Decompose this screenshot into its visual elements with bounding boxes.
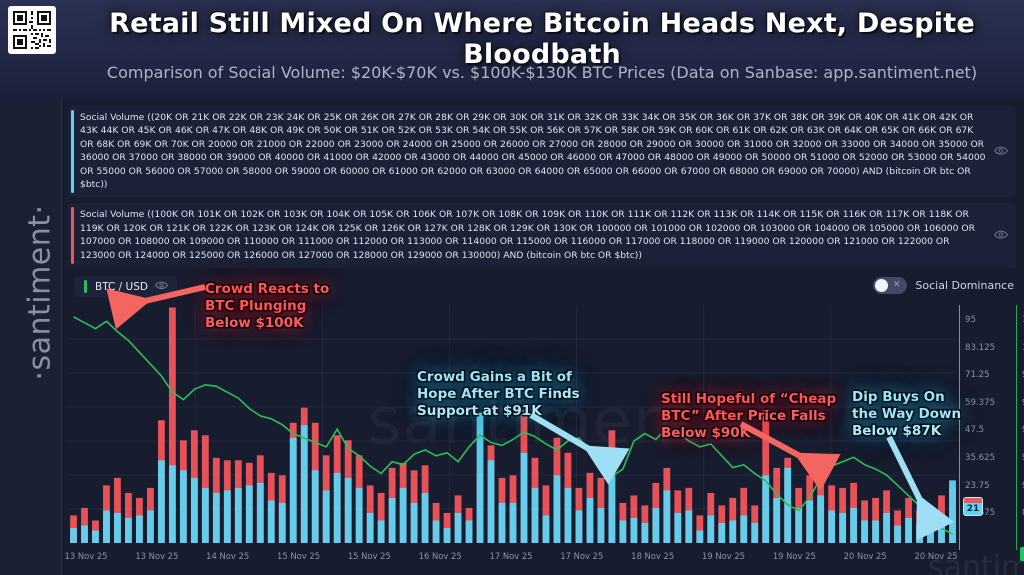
chart-panel: Social Volume ((20K OR 21K OR 22K OR 23K… xyxy=(62,100,1024,575)
page-subtitle: Comparison of Social Volume: $20K-$70K v… xyxy=(70,63,1014,82)
x-tick-label: 15 Nov 25 xyxy=(348,551,391,561)
x-tick-label: 18 Nov 25 xyxy=(631,551,674,561)
metric-query-social-volume-low[interactable]: Social Volume ((20K OR 21K OR 22K OR 23K… xyxy=(68,106,1016,197)
y-tick-left: 47.5 xyxy=(965,425,984,435)
y-tick-left: 95 xyxy=(965,315,976,325)
query-text-low: Social Volume ((20K OR 21K OR 22K OR 23K… xyxy=(80,112,986,190)
eye-icon[interactable] xyxy=(994,146,1008,158)
x-tick-label: 17 Nov 25 xyxy=(560,551,603,561)
y-tick-left: 35.625 xyxy=(965,453,995,463)
toggle-knob xyxy=(875,279,888,292)
series-chip-btc-usd[interactable]: BTC / USD xyxy=(74,276,177,297)
series-chip-label: BTC / USD xyxy=(95,281,148,293)
series-color-swatch-red xyxy=(71,207,74,264)
axis-line-right xyxy=(1016,305,1017,550)
x-tick-label: 14 Nov 25 xyxy=(206,551,249,561)
chart-svg xyxy=(68,305,958,545)
price-badge: 88.5K xyxy=(1020,547,1024,561)
x-tick-label: 16 Nov 25 xyxy=(419,551,462,561)
x-tick-label: 20 Nov 25 xyxy=(915,551,958,561)
eye-icon[interactable] xyxy=(155,281,168,292)
toggle-x-mark: ✕ xyxy=(893,279,901,292)
santiment-wordmark: ·santiment· xyxy=(23,133,58,453)
series-color-swatch-green xyxy=(84,280,87,293)
plot-area: santiment 9583.12571.2559.37547.535.6252… xyxy=(68,305,1022,575)
metric-query-social-volume-high[interactable]: Social Volume ((100K OR 101K OR 102K OR … xyxy=(68,203,1016,268)
plot-canvas: santiment xyxy=(68,305,958,543)
brand-rail: ·santiment· xyxy=(0,100,62,575)
y-tick-left: 23.75 xyxy=(965,481,990,491)
query-text-high: Social Volume ((100K OR 101K OR 102K OR … xyxy=(80,209,975,260)
social-dominance-label: Social Dominance xyxy=(915,279,1014,292)
chart-toolbar: BTC / USD ✕ Social Dominance xyxy=(68,276,1016,302)
toggle-off-icon[interactable]: ✕ xyxy=(873,277,907,294)
x-tick-label: 20 Nov 25 xyxy=(844,551,887,561)
page-header: Retail Still Mixed On Where Bitcoin Head… xyxy=(0,0,1024,100)
x-tick-label: 15 Nov 25 xyxy=(277,551,320,561)
x-axis: 13 Nov 2513 Nov 2514 Nov 2515 Nov 2515 N… xyxy=(68,551,958,569)
series-color-swatch-cyan xyxy=(71,110,74,193)
social-dominance-control[interactable]: ✕ Social Dominance xyxy=(873,277,1014,294)
eye-icon[interactable] xyxy=(994,230,1008,242)
page-title: Retail Still Mixed On Where Bitcoin Head… xyxy=(70,8,1014,70)
y-tick-left: 83.125 xyxy=(965,343,995,353)
y-tick-left: 59.375 xyxy=(965,398,995,408)
x-tick-label: 19 Nov 25 xyxy=(702,551,745,561)
x-tick-label: 13 Nov 25 xyxy=(135,551,178,561)
x-tick-label: 17 Nov 25 xyxy=(490,551,533,561)
y-tick-left: 71.25 xyxy=(965,370,990,380)
qr-code-icon xyxy=(8,6,56,54)
calendar-marker[interactable]: 21 xyxy=(963,497,983,516)
y-axis-btc-price: 103K101K99.3K97.2K95.1K93.1K91K89K xyxy=(1018,305,1024,543)
x-tick-label: 19 Nov 25 xyxy=(773,551,816,561)
calendar-day: 21 xyxy=(967,504,980,515)
axis-line-left xyxy=(959,305,960,550)
x-tick-label: 13 Nov 25 xyxy=(65,551,108,561)
